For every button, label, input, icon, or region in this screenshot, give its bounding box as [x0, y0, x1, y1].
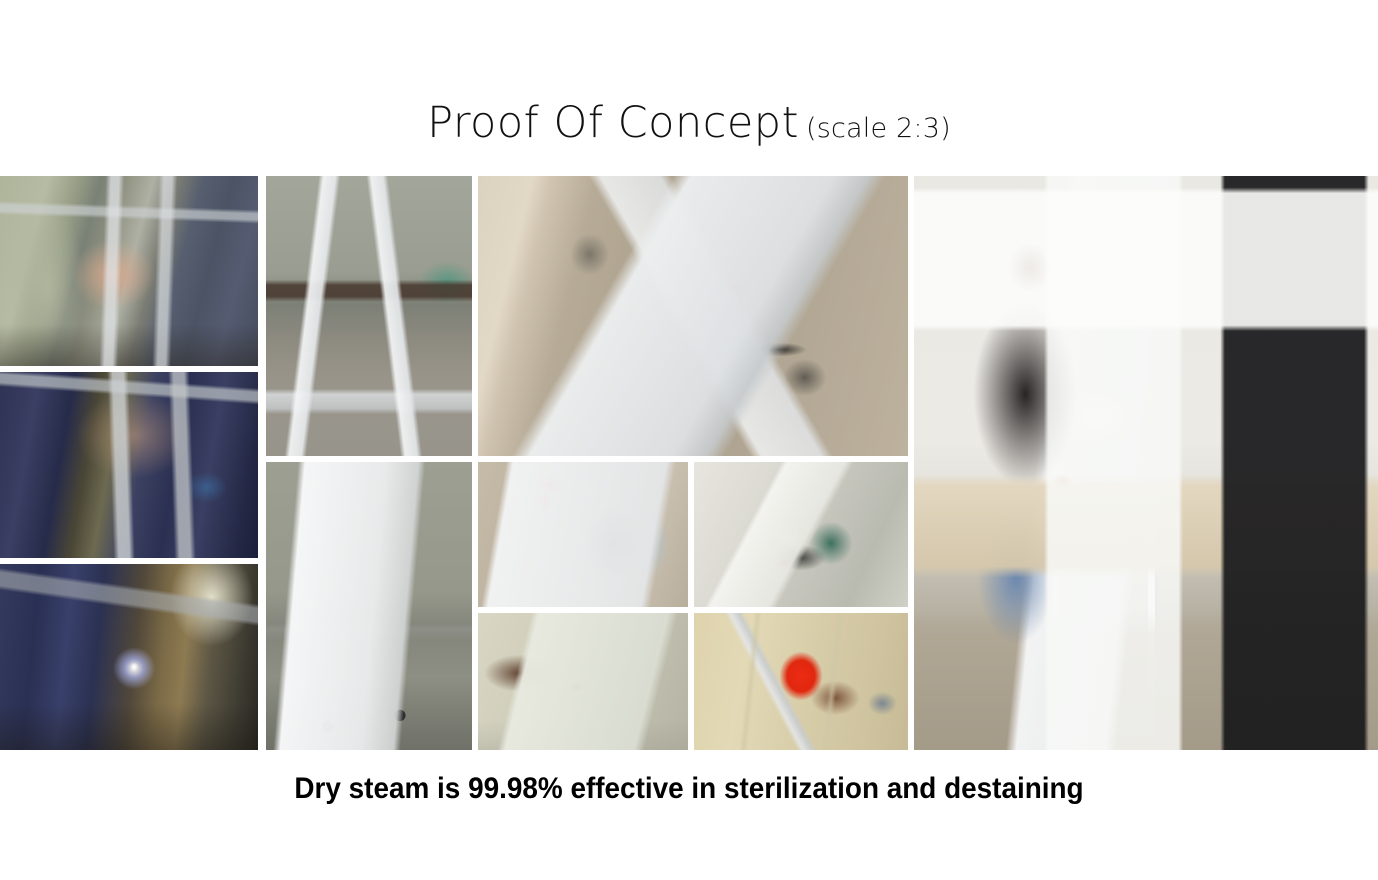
photo-image	[694, 462, 908, 607]
photo-image	[0, 176, 258, 366]
photo-trolley-topview-carpet: Top view of finished white trolley with …	[478, 176, 908, 456]
photo-image	[478, 462, 688, 607]
photo-alu-frame-standing: Bare welded aluminium frame standing on …	[266, 176, 472, 456]
photo-image	[478, 176, 908, 456]
photo-demo-person-room: Man with lanyard demonstrating the steam…	[914, 176, 1378, 750]
photo-steam-gun-hand: Hand holding the red steam gun with curv…	[694, 613, 908, 750]
photo-image	[0, 564, 258, 750]
photo-image	[0, 372, 258, 558]
photo-workshop-frame-assembly: Worker in olive shirt holding aluminium …	[0, 176, 258, 366]
slide-caption: Dry steam is 99.98% effective in sterili…	[48, 772, 1330, 806]
photo-welding-sparks: Welding the metal box with bright sparks…	[0, 564, 258, 750]
photo-cart-interior-bottle: Inside the cart bin showing water bottle…	[478, 462, 688, 607]
photo-image	[694, 613, 908, 750]
title-text: Proof Of Concept	[427, 98, 799, 148]
trolley-outline	[1053, 492, 1155, 736]
photo-collage: Worker in olive shirt holding aluminium …	[0, 176, 1378, 750]
photo-image	[266, 176, 472, 456]
photo-image	[266, 462, 472, 750]
photo-image	[478, 613, 688, 750]
page-title: Proof Of Concept(scale 2:3)	[0, 98, 1378, 148]
title-scale-note: (scale 2:3)	[806, 113, 951, 144]
photo-hand-lid-latch: Hand operating the latch on the white ca…	[478, 613, 688, 750]
photo-internal-hoses-wiring: Internal compartment with green and blac…	[694, 462, 908, 607]
photo-image	[914, 176, 1378, 750]
photo-painted-cart-workshop: White painted trolley with castor wheels…	[266, 462, 472, 750]
photo-frame-drilling: Two workers in blue coveralls drilling t…	[0, 372, 258, 558]
